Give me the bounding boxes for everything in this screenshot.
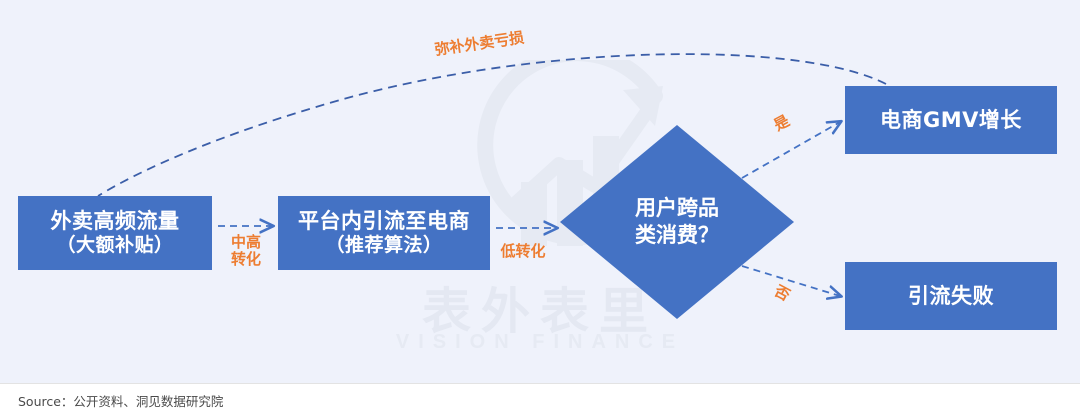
footer: Source：公开资料、洞见数据研究院: [0, 383, 1080, 414]
node-gmv[interactable]: 电商GMV增长: [845, 86, 1057, 154]
node-fail-line1: 引流失败: [908, 284, 994, 309]
source-text: Source：公开资料、洞见数据研究院: [18, 391, 223, 410]
node-fail[interactable]: 引流失败: [845, 262, 1057, 330]
diagram-stage: 表外表里 VISION FINANCE 外卖高频流量 （大额补贴: [0, 0, 1080, 414]
node-decision-line2: 类消费？: [635, 222, 719, 249]
edge-label-offset-loss: 弥补外卖亏损: [419, 27, 540, 61]
diagram-canvas: 表外表里 VISION FINANCE 外卖高频流量 （大额补贴: [0, 0, 1080, 383]
node-funnel-line2: （推荐算法）: [325, 234, 442, 256]
node-traffic-line2: （大额补贴）: [56, 234, 173, 256]
edge-label-mid-conversion: 中高 转化: [216, 234, 276, 269]
node-decision-line1: 用户跨品: [635, 195, 719, 222]
node-traffic[interactable]: 外卖高频流量 （大额补贴）: [18, 196, 212, 270]
node-funnel-line1: 平台内引流至电商: [298, 209, 470, 234]
node-gmv-line1: 电商GMV增长: [880, 108, 1022, 133]
edge-label-mid-line2: 转化: [216, 251, 276, 268]
watermark-text-en: VISION FINANCE: [0, 331, 1080, 354]
edge-label-low-conversion: 低转化: [490, 243, 556, 260]
node-traffic-line1: 外卖高频流量: [51, 209, 180, 234]
node-decision[interactable]: 用户跨品 类消费？: [560, 125, 794, 319]
edge-label-mid-line1: 中高: [216, 234, 276, 251]
node-funnel[interactable]: 平台内引流至电商 （推荐算法）: [278, 196, 490, 270]
decision-label: 用户跨品 类消费？: [560, 125, 794, 319]
